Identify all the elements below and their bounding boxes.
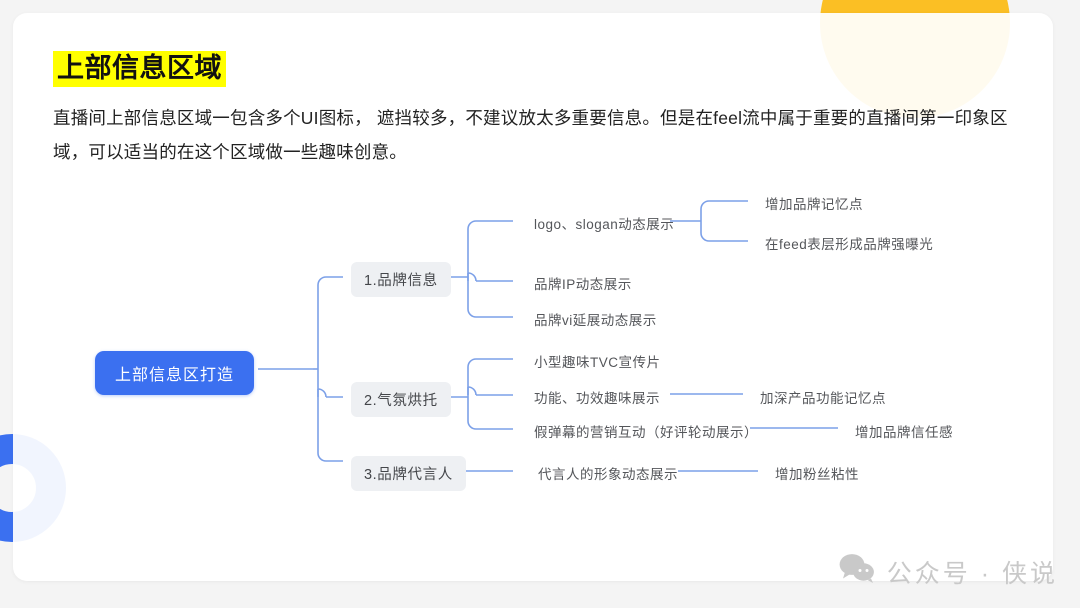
mindmap-outcome-feed-exposure[interactable]: 在feed表层形成品牌强曝光 (765, 233, 933, 253)
mindmap-outcome-function-memory[interactable]: 加深产品功能记忆点 (760, 387, 886, 407)
mindmap-outcome-brand-trust[interactable]: 增加品牌信任感 (855, 421, 953, 441)
wechat-icon (839, 553, 875, 590)
mindmap-leaf-function-demo[interactable]: 功能、功效趣味展示 (534, 387, 660, 407)
slide-card: 上部信息区域 直播间上部信息区域一包含多个UI图标， 遮挡较多，不建议放太多重要… (13, 13, 1053, 581)
watermark: 公众号 · 侠说 (839, 553, 1058, 590)
mindmap-root-node[interactable]: 上部信息区打造 (95, 351, 254, 395)
mindmap-branch-2[interactable]: 2.气氛烘托 (351, 382, 451, 417)
mindmap-outcome-brand-memory[interactable]: 增加品牌记忆点 (765, 193, 863, 213)
mindmap-leaf-brand-vi[interactable]: 品牌vi延展动态展示 (534, 309, 657, 329)
mindmap-leaf-brand-logo[interactable]: logo、slogan动态展示 (534, 213, 674, 233)
page-title: 上部信息区域 (53, 51, 226, 87)
mindmap-leaf-brand-ip[interactable]: 品牌IP动态展示 (534, 273, 632, 293)
mindmap-leaf-spokesperson[interactable]: 代言人的形象动态展示 (538, 463, 678, 483)
mindmap-outcome-fan-stickiness[interactable]: 增加粉丝粘性 (775, 463, 859, 483)
mindmap-branch-3[interactable]: 3.品牌代言人 (351, 456, 466, 491)
mindmap-branch-1[interactable]: 1.品牌信息 (351, 262, 451, 297)
mindmap-leaf-tvc[interactable]: 小型趣味TVC宣传片 (534, 351, 661, 371)
mindmap-diagram: 上部信息区打造 1.品牌信息 2.气氛烘托 3.品牌代言人 logo、sloga… (13, 163, 1053, 553)
watermark-text: 公众号 · 侠说 (887, 554, 1058, 590)
intro-paragraph: 直播间上部信息区域一包含多个UI图标， 遮挡较多，不建议放太多重要信息。但是在f… (53, 101, 1013, 169)
mindmap-leaf-fake-danmaku[interactable]: 假弹幕的营销互动（好评轮动展示） (534, 421, 758, 441)
